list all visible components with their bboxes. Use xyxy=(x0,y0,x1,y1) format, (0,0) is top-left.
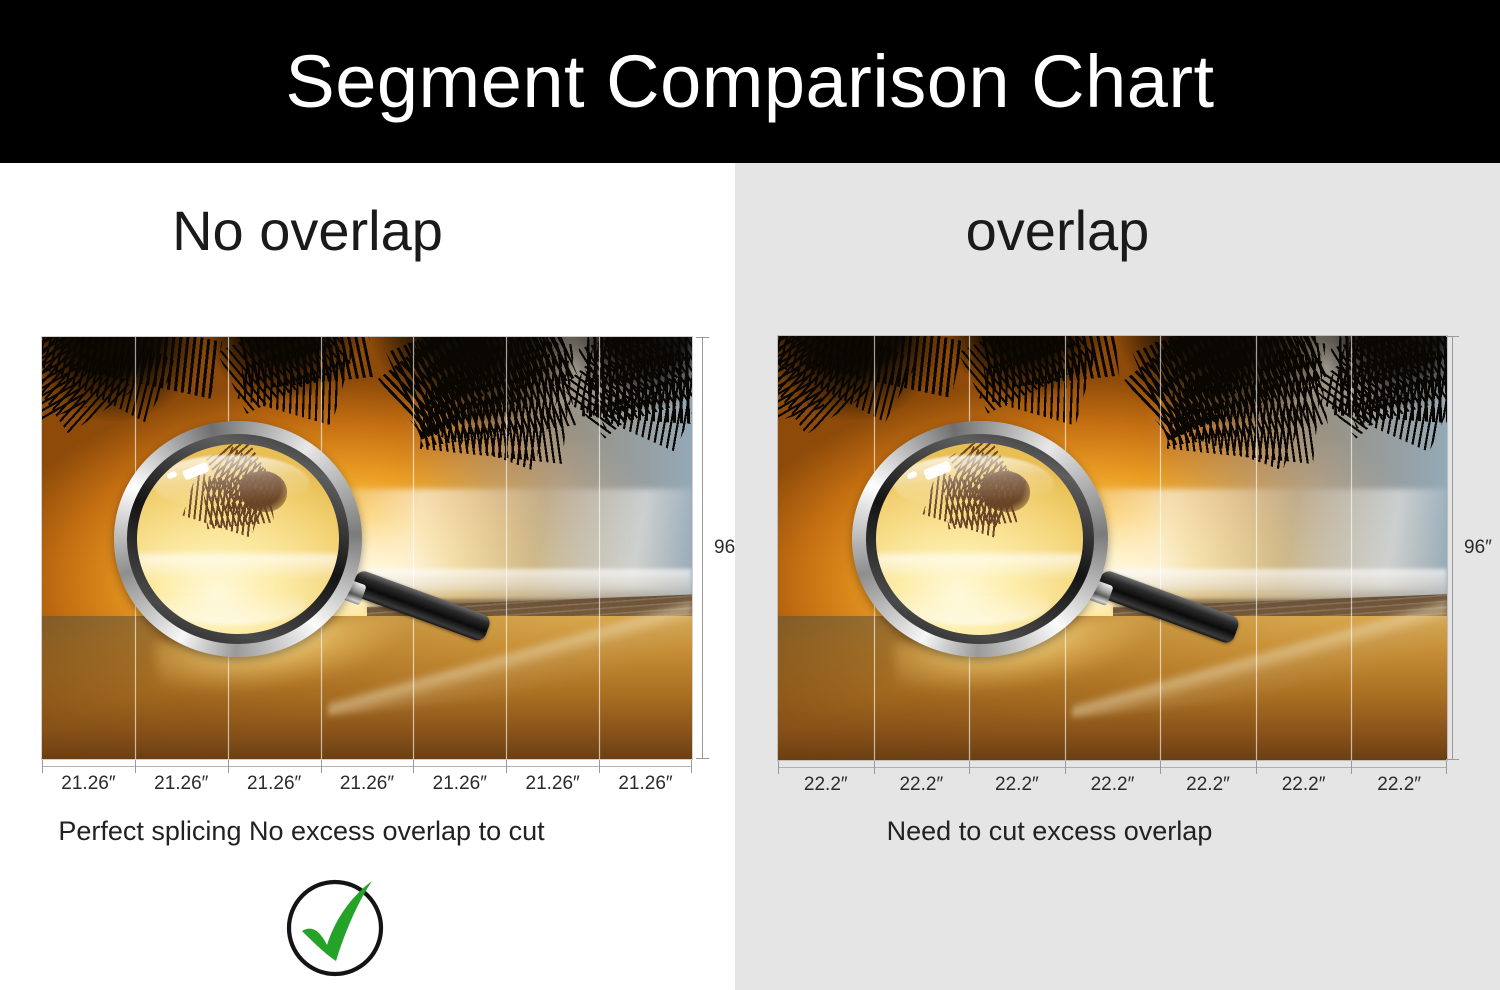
segment-label: 22.2″ xyxy=(1065,774,1161,796)
height-dimension-label-right: 96″ xyxy=(1464,537,1492,559)
panel-overlap: overlap xyxy=(735,163,1500,990)
caption-overlap: Need to cut excess overlap xyxy=(667,818,1432,845)
segment-dimension-rail-right xyxy=(778,767,1447,768)
page-title: Segment Comparison Chart xyxy=(285,45,1214,119)
segment-label: 21.26″ xyxy=(321,773,414,795)
mural-image xyxy=(42,337,692,759)
segment-label: 21.26″ xyxy=(599,773,692,795)
height-dimension-line-right xyxy=(1452,336,1453,760)
height-dimension-line-left xyxy=(702,337,703,759)
small-palm-tree xyxy=(1005,455,1152,599)
panel-no-overlap: No overlap xyxy=(0,163,735,990)
panel-heading-no-overlap: No overlap xyxy=(0,203,675,259)
mural-image xyxy=(778,336,1447,760)
green-check-icon xyxy=(282,875,388,981)
segment-label: 22.2″ xyxy=(874,774,970,796)
segment-label: 22.2″ xyxy=(1160,774,1256,796)
segment-label: 22.2″ xyxy=(1256,774,1352,796)
segment-label: 21.26″ xyxy=(506,773,599,795)
caption-no-overlap: Perfect splicing No excess overlap to cu… xyxy=(0,818,669,845)
title-banner: Segment Comparison Chart xyxy=(0,0,1500,163)
segment-label: 22.2″ xyxy=(969,774,1065,796)
comparison-panels: No overlap xyxy=(0,163,1500,990)
panel-heading-overlap: overlap xyxy=(675,203,1440,259)
segment-label: 21.26″ xyxy=(135,773,228,795)
segment-labels-right: 22.2″ 22.2″ 22.2″ 22.2″ 22.2″ 22.2″ 22.2… xyxy=(778,774,1447,796)
segment-label: 21.26″ xyxy=(42,773,135,795)
small-palm-tree xyxy=(263,455,406,598)
mural-no-overlap xyxy=(42,337,692,759)
segment-label: 21.26″ xyxy=(413,773,506,795)
segment-label: 22.2″ xyxy=(1351,774,1447,796)
segment-dimension-rail-left xyxy=(42,766,692,767)
segment-label: 22.2″ xyxy=(778,774,874,796)
mural-overlap xyxy=(778,336,1447,760)
segment-labels-left: 21.26″ 21.26″ 21.26″ 21.26″ 21.26″ 21.26… xyxy=(42,773,692,795)
segment-label: 21.26″ xyxy=(228,773,321,795)
